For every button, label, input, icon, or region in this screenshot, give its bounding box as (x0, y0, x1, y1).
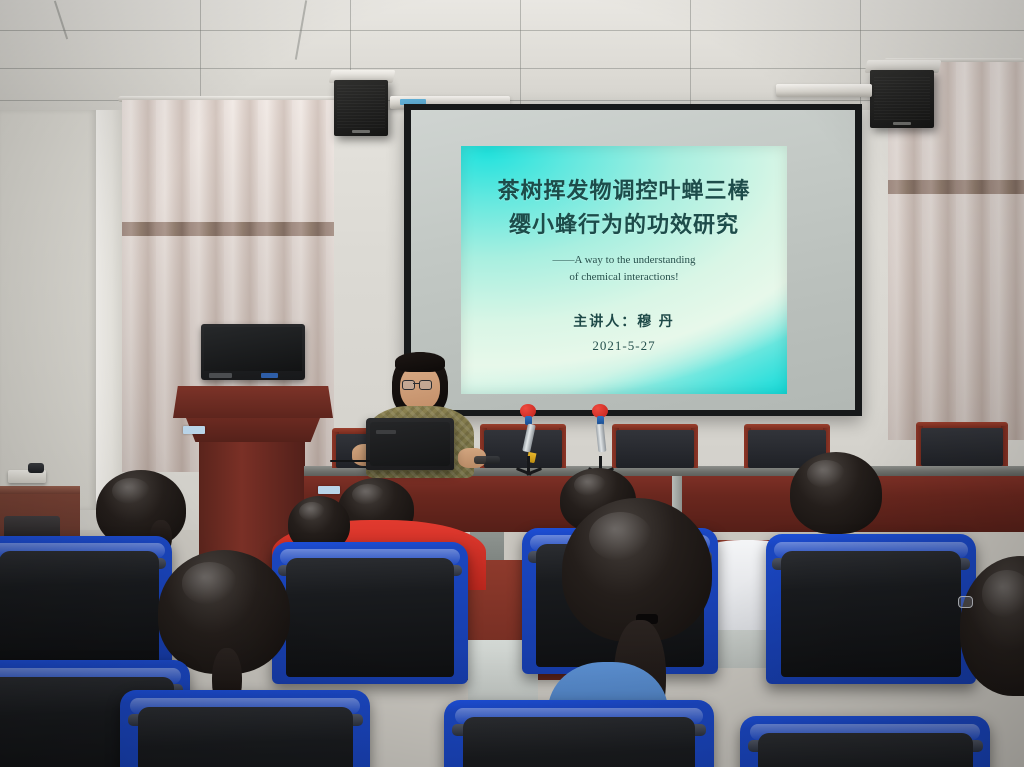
podium-middle (186, 418, 320, 442)
podium-top (173, 386, 333, 418)
wall-panel-left (0, 110, 96, 510)
wall-pillar (96, 110, 122, 510)
audience-chair-front-center[interactable] (120, 690, 370, 767)
projected-slide: 茶树挥发物调控叶蝉三棒 缨小蜂行为的功效研究 ——A way to the un… (461, 146, 787, 394)
presenter-laptop[interactable] (366, 418, 454, 470)
audience-member-4b-head (790, 452, 882, 534)
podium-label (183, 426, 205, 434)
wall-speaker-left (334, 80, 388, 136)
lecture-hall-photo: 茶树挥发物调控叶蝉三棒 缨小蜂行为的功效研究 ——A way to the un… (0, 0, 1024, 767)
slide-title: 茶树挥发物调控叶蝉三棒 缨小蜂行为的功效研究 (497, 174, 750, 242)
audience-member-6-head (960, 556, 1024, 696)
slide-presenter: 主讲人：穆 丹 (573, 311, 675, 331)
audience-chair-front-far-right[interactable] (740, 716, 990, 767)
projection-screen: 茶树挥发物调控叶蝉三棒 缨小蜂行为的功效研究 ——A way to the un… (404, 104, 862, 416)
table-microphone-left[interactable] (520, 404, 540, 474)
slide-subtitle: ——A way to the understanding of chemical… (553, 252, 696, 285)
presenter-fringe (395, 352, 445, 372)
presenter-glasses (402, 380, 438, 389)
audience-member-6-glasses (958, 596, 992, 608)
audience-chair-mid-center[interactable] (272, 542, 468, 684)
slide-date: 2021-5-27 (592, 338, 655, 354)
back-chair-4[interactable] (916, 422, 1008, 466)
wall-speaker-right (870, 70, 934, 128)
audience-chair-mid-left[interactable] (0, 536, 172, 674)
desk-telephone[interactable] (8, 470, 46, 483)
table-microphone-right[interactable] (592, 404, 612, 474)
front-desk-label (318, 486, 340, 494)
podium-monitor[interactable] (201, 324, 305, 380)
audience-chair-mid-far-right[interactable] (766, 534, 976, 684)
audience-chair-front-right[interactable] (444, 700, 714, 767)
projector-screen-roller-right (776, 84, 872, 97)
desk-phone-right (474, 456, 500, 464)
laptop-cable (330, 460, 370, 462)
back-chair-2[interactable] (612, 424, 698, 468)
